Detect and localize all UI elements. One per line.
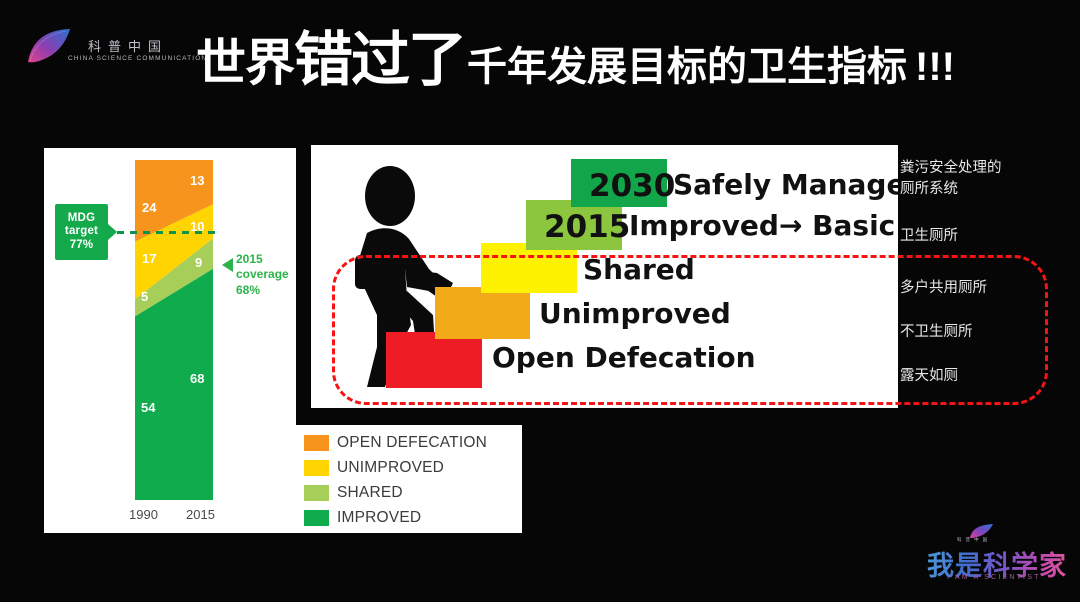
mdg-target-line2: target (65, 225, 98, 239)
brand-logo: 科普中国 CHINA SCIENCE COMMUNICATION (26, 26, 186, 72)
note-safely-managed-line2: 厕所系统 (900, 179, 958, 200)
step-open-defecation (386, 332, 482, 388)
legend-swatch-open-defecation (304, 435, 329, 451)
footer-logo: 科 普 中 国 我是科学家 I AM A SCIENTIST (925, 524, 1065, 586)
note-unimproved: 不卫生厕所 (900, 322, 973, 343)
coverage-arrow-icon (222, 258, 233, 272)
legend-swatch-shared (304, 485, 329, 501)
page-title-part3: 千年发展目标的卫生指标 (467, 47, 907, 87)
step-year-2015: 2015 (544, 209, 630, 245)
legend-label-unimproved: UNIMPROVED (337, 459, 444, 477)
mdg-target-arrow-icon (108, 224, 117, 240)
step-label-shared: Shared (583, 253, 695, 286)
x-tick-1990: 1990 (129, 507, 158, 522)
legend-label-improved: IMPROVED (337, 509, 421, 527)
coverage-line3: 68% (236, 283, 289, 298)
step-label-improved-basic: Improved→ Basic (629, 209, 895, 242)
page-title-part1: 世界 (196, 38, 294, 88)
mdg-target-line1: MDG (68, 212, 95, 226)
sanitation-ladder-diagram: 2030 2015 Safely Managed Improved→ Basic… (311, 145, 898, 408)
chart-legend: OPEN DEFECATION UNIMPROVED SHARED IMPROV… (296, 425, 522, 533)
step-year-2030: 2030 (589, 168, 675, 204)
step-label-unimproved: Unimproved (539, 297, 731, 330)
footer-logo-tiny: 科 普 中 国 (957, 537, 989, 543)
mdg-target-line3: 77% (70, 239, 94, 253)
coverage-2015-annotation: 2015 coverage 68% (236, 252, 289, 298)
slide-header: 科普中国 CHINA SCIENCE COMMUNICATION 世界 错过了 … (0, 0, 1080, 108)
footer-logo-en: I AM A SCIENTIST (947, 574, 1041, 581)
step-unimproved (435, 287, 530, 339)
legend-item-improved: IMPROVED (304, 505, 522, 530)
brand-logo-en: CHINA SCIENCE COMMUNICATION (68, 55, 207, 62)
bar-label-2015-improved: 68 (190, 371, 204, 386)
coverage-line1: 2015 (236, 252, 289, 267)
legend-label-shared: SHARED (337, 484, 403, 502)
coverage-line2: coverage (236, 267, 289, 282)
legend-item-unimproved: UNIMPROVED (304, 455, 522, 480)
step-shared (481, 243, 577, 293)
bar-label-1990-improved: 54 (141, 400, 155, 415)
note-improved-basic: 卫生厕所 (900, 226, 958, 247)
mdg-target-dashed-line (117, 231, 220, 234)
page-title: 世界 错过了 千年发展目标的卫生指标 !!! (196, 30, 955, 94)
page-title-part2: 错过了 (294, 30, 465, 89)
bar-label-1990-open-defecation: 24 (142, 200, 156, 215)
page-title-exclamations: !!! (915, 45, 955, 90)
bar-label-1990-shared: 5 (141, 289, 148, 304)
bar-label-2015-open-defecation: 13 (190, 173, 204, 188)
bar-label-1990-unimproved: 17 (142, 251, 156, 266)
legend-item-open-defecation: OPEN DEFECATION (304, 430, 522, 455)
legend-swatch-unimproved (304, 460, 329, 476)
legend-item-shared: SHARED (304, 480, 522, 505)
step-label-open-defecation: Open Defecation (492, 341, 756, 374)
bar-label-2015-shared: 9 (195, 255, 202, 270)
legend-swatch-improved (304, 510, 329, 526)
mdg-target-badge: MDG target 77% (55, 204, 108, 260)
legend-label-open-defecation: OPEN DEFECATION (337, 434, 487, 452)
note-open-defecation: 露天如厕 (900, 366, 958, 387)
brand-logo-cn: 科普中国 (88, 36, 168, 55)
x-tick-2015: 2015 (186, 507, 215, 522)
note-safely-managed-line1: 粪污安全处理的 (900, 158, 1002, 179)
step-label-safely-managed: Safely Managed (673, 168, 898, 201)
note-shared: 多户共用厕所 (900, 278, 987, 299)
